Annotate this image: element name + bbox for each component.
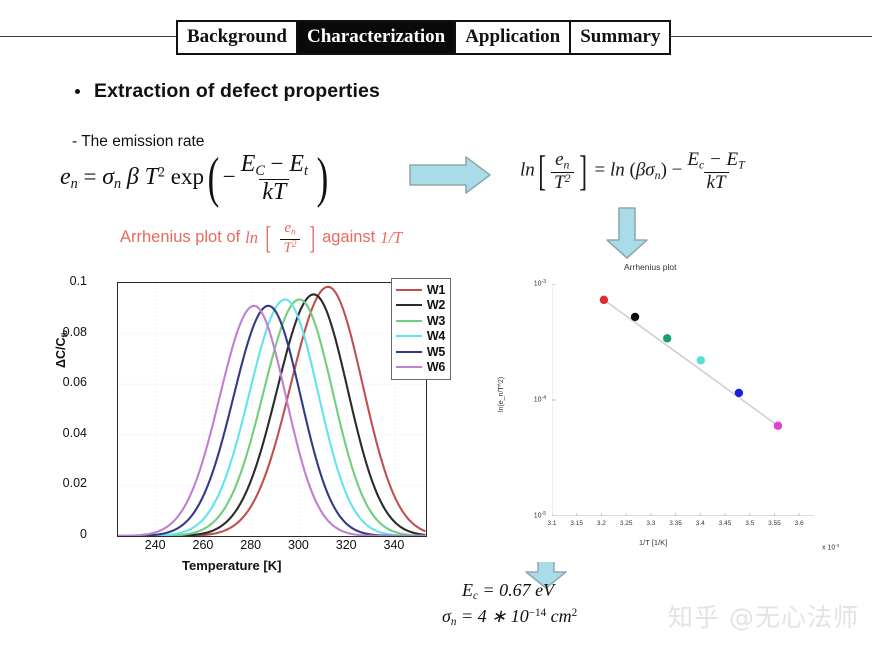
legend-swatch — [396, 320, 422, 322]
x-tick-label: 280 — [231, 538, 271, 552]
slide-root: Background Characterization Application … — [0, 0, 872, 645]
result-sigma-exp: −14 — [529, 607, 546, 619]
eq-beta: β — [127, 164, 139, 190]
req-equals: = — [595, 160, 606, 181]
req-ln: ln — [520, 160, 535, 181]
y-tick-label: 0.02 — [27, 476, 87, 490]
x-tick-label: 240 — [135, 538, 175, 552]
legend-swatch — [396, 351, 422, 353]
arrhenius-y-axis-label: ln(e_n/T^2) — [498, 377, 505, 412]
y-tick-label: 0.1 — [27, 274, 87, 288]
req-ET-sub: T — [738, 158, 745, 171]
req-frac: enT2 — [551, 150, 573, 193]
tab-background[interactable]: Background — [178, 22, 298, 53]
req-frac2-num: Ec − ET — [684, 150, 747, 172]
arrhenius-x-tick: 3.6 — [784, 520, 814, 527]
arrhenius-y-tick: 10-5 — [516, 511, 546, 520]
req-ln2: ln — [610, 160, 625, 181]
paren-open-icon: ( — [208, 163, 220, 194]
eq-sigma-sub: n — [114, 176, 121, 192]
req-frac2: Ec − ETkT — [684, 150, 747, 193]
watermark: 知乎 @无心法师 — [668, 598, 859, 634]
tab-application[interactable]: Application — [456, 22, 571, 53]
note-bracket-close-icon: ] — [309, 229, 315, 246]
tab-characterization[interactable]: Characterization — [298, 22, 456, 53]
note-prefix: Arrhenius plot of — [120, 228, 240, 247]
eq-frac-minus: − — [271, 151, 284, 176]
req-minus: − — [672, 160, 683, 181]
eq-sigma: σ — [102, 164, 114, 190]
arrhenius-plot-area — [552, 284, 814, 516]
legend-item-w3[interactable]: W3 — [396, 313, 445, 329]
eq-EC: E — [241, 151, 256, 177]
result-sigma-unit: cm — [551, 606, 572, 626]
note-ln: ln — [245, 228, 258, 248]
bracket-close-icon: ] — [579, 161, 587, 182]
eq-frac-den: kT — [259, 179, 289, 205]
arrow-down-icon — [604, 206, 650, 260]
legend-swatch — [396, 289, 422, 291]
req-sigma-sub: n — [655, 169, 661, 182]
legend-label: W2 — [427, 298, 445, 312]
legend-swatch — [396, 335, 422, 337]
note-bracket-open-icon: [ — [265, 229, 271, 246]
req-den: T2 — [551, 172, 573, 193]
dlts-legend: W1W2W3W4W5W6 — [391, 278, 451, 380]
x-tick-label: 260 — [183, 538, 223, 552]
note-e-sub: n — [291, 228, 296, 238]
bullet-icon — [75, 89, 80, 94]
legend-item-w6[interactable]: W6 — [396, 360, 445, 376]
note-suffix: 1/T — [380, 228, 402, 248]
req-num: en — [552, 150, 572, 172]
legend-swatch — [396, 304, 422, 306]
bracket-open-icon: [ — [538, 161, 546, 182]
result-sigma-unit-sup: 2 — [572, 607, 578, 619]
x-tick-label: 300 — [278, 538, 318, 552]
eq-fraction: EC − EtkT — [238, 152, 311, 205]
arrhenius-x-exponent: x 10-3 — [822, 543, 839, 551]
arrhenius-equation: ln[enT2] = ln (βσn) −Ec − ETkT — [520, 150, 750, 193]
subtitle: - The emission rate — [72, 133, 204, 151]
data-point-w6 — [774, 422, 782, 430]
result-sigma-value: = 4 ∗ 10 — [461, 606, 529, 626]
eq-equals: = — [84, 164, 97, 189]
arrow-right-icon — [408, 155, 492, 195]
dlts-x-axis-label: Temperature [K] — [182, 558, 281, 573]
req-T: T — [554, 172, 565, 193]
y-tick-label: 0.08 — [27, 325, 87, 339]
req-frac2-den: kT — [704, 172, 729, 193]
nav-tabs: Background Characterization Application … — [176, 20, 671, 55]
y-tick-label: 0.06 — [27, 375, 87, 389]
result-line-ec: Ec = 0.67 eV — [462, 578, 577, 604]
dlts-plot-area — [117, 282, 427, 537]
note-num: en — [281, 220, 298, 239]
note-T: T — [283, 239, 291, 256]
arrhenius-title: Arrhenius plot — [624, 262, 676, 272]
result-sigma-symbol: σ — [442, 606, 451, 626]
eq-e: e — [60, 164, 71, 190]
legend-item-w1[interactable]: W1 — [396, 282, 445, 298]
paren-close-icon: ) — [316, 163, 328, 194]
dlts-spectra-chart: ΔC/Cfb W1W2W3W4W5W6 00.020.040.060.080.1… — [60, 272, 455, 572]
data-point-w1 — [600, 296, 608, 304]
result-ec-sub: c — [473, 590, 478, 602]
result-ec-value: = 0.67 eV — [482, 580, 554, 600]
y-tick-label: 0.04 — [27, 426, 87, 440]
page-title-row: Extraction of defect properties — [75, 80, 380, 103]
legend-label: W1 — [427, 283, 445, 297]
x-exp-sup: -3 — [835, 543, 839, 548]
y-label-main: ΔC/C — [54, 337, 68, 368]
arrhenius-note: Arrhenius plot of ln[enT2] against 1/T — [120, 220, 402, 255]
eq-T-sup: 2 — [158, 164, 165, 180]
req-sigma: σ — [645, 160, 654, 181]
arrhenius-chart: Arrhenius plot ln(e_n/T^2) 10-310-410-5 … — [500, 262, 865, 562]
result-sigma-sub: n — [451, 616, 457, 628]
arrhenius-x-axis-label: 1/T [1/K] — [639, 538, 667, 547]
legend-swatch — [396, 366, 422, 368]
legend-item-w4[interactable]: W4 — [396, 329, 445, 345]
legend-label: W6 — [427, 360, 445, 374]
result-ec-symbol: E — [462, 580, 473, 600]
req-Ec: E — [687, 149, 699, 170]
page-title: Extraction of defect properties — [94, 80, 380, 103]
y-tick-label: 0 — [27, 527, 87, 541]
note-T-sup: 2 — [292, 240, 297, 250]
req-Ec-sub: c — [699, 158, 704, 171]
legend-label: W4 — [427, 329, 445, 343]
eq-e-sub: n — [71, 176, 78, 192]
legend-item-w2[interactable]: W2 — [396, 298, 445, 314]
data-point-w4 — [697, 356, 705, 364]
legend-label: W5 — [427, 345, 445, 359]
section-nav: Background Characterization Application … — [0, 20, 872, 54]
data-point-w3 — [663, 334, 671, 342]
req-ET: E — [727, 149, 739, 170]
eq-Et: E — [289, 151, 304, 177]
eq-T: T — [145, 164, 158, 190]
req-beta: β — [636, 160, 645, 181]
note-den: T2 — [280, 239, 299, 256]
x-exp-base: x 10 — [822, 544, 835, 551]
result-line-sigma: σn = 4 ∗ 10−14 cm2 — [442, 604, 577, 630]
legend-item-w5[interactable]: W5 — [396, 344, 445, 360]
arrhenius-y-tick: 10-4 — [516, 395, 546, 404]
eq-Et-sub: t — [304, 163, 308, 179]
req-f2-minus: − — [709, 149, 722, 170]
data-point-w5 — [735, 389, 743, 397]
arrhenius-y-tick: 10-3 — [516, 279, 546, 288]
eq-frac-num: EC − Et — [238, 152, 311, 179]
extracted-results: Ec = 0.67 eV σn = 4 ∗ 10−14 cm2 — [462, 578, 577, 630]
note-frac: enT2 — [280, 220, 299, 255]
x-tick-label: 320 — [326, 538, 366, 552]
req-e: e — [555, 149, 563, 170]
eq-exp: exp — [171, 164, 204, 189]
req-e-sub: n — [564, 158, 570, 171]
tab-summary[interactable]: Summary — [571, 22, 669, 53]
data-point-w2 — [631, 313, 639, 321]
legend-label: W3 — [427, 314, 445, 328]
eq-EC-sub: C — [255, 163, 265, 179]
req-T-sup: 2 — [565, 172, 571, 185]
x-tick-label: 340 — [374, 538, 414, 552]
emission-rate-equation: en = σn β T2 exp(−EC − EtkT) — [60, 152, 332, 205]
eq-neg: − — [223, 164, 236, 189]
note-middle: against — [322, 228, 375, 247]
